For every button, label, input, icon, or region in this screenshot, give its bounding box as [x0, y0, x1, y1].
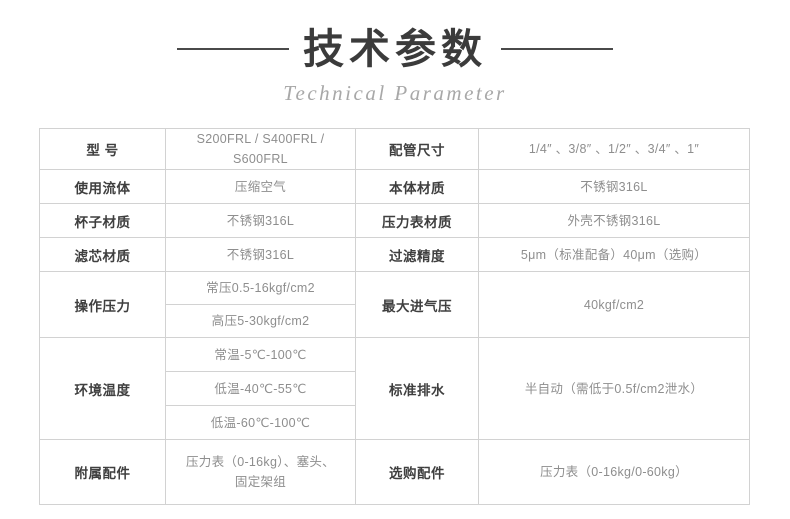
row-value-model: S200FRL / S400FRL / S600FRL [166, 129, 356, 170]
row-value-gauge-material: 外壳不锈钢316L [479, 204, 750, 238]
row-label-gauge-material: 压力表材质 [356, 204, 479, 238]
row-label-filtration: 过滤精度 [356, 238, 479, 272]
row-value-operating-pressure-high: 高压5-30kgf/cm2 [166, 305, 356, 338]
table-row: 环境温度 常温-5℃-100℃ 标准排水 半自动（需低于0.5f/cm2泄水） [40, 338, 750, 372]
spec-table: 型 号 S200FRL / S400FRL / S600FRL 配管尺寸 1/4… [39, 128, 750, 505]
table-row: 型 号 S200FRL / S400FRL / S600FRL 配管尺寸 1/4… [40, 129, 750, 170]
title-rule-right [501, 48, 613, 50]
page-title: 技术参数 [303, 24, 487, 74]
accessory-line-1: 压力表（0-16kg）、塞头、 [172, 452, 349, 472]
row-label-bowl-material: 杯子材质 [40, 204, 166, 238]
table-row: 使用流体 压缩空气 本体材质 不锈钢316L [40, 170, 750, 204]
row-value-optional-accessories: 压力表（0-16kg/0-60kg） [479, 440, 750, 505]
row-label-pipe-size: 配管尺寸 [356, 129, 479, 170]
table-row: 附属配件 压力表（0-16kg）、塞头、 固定架组 选购配件 压力表（0-16k… [40, 440, 750, 505]
row-label-ambient-temperature: 环境温度 [40, 338, 166, 440]
row-value-fluid: 压缩空气 [166, 170, 356, 204]
row-value-included-accessories: 压力表（0-16kg）、塞头、 固定架组 [166, 440, 356, 505]
row-label-included-accessories: 附属配件 [40, 440, 166, 505]
table-row: 操作压力 常压0.5-16kgf/cm2 最大进气压 40kgf/cm2 [40, 272, 750, 305]
row-value-pipe-size: 1/4″ 、3/8″ 、1/2″ 、3/4″ 、1″ [479, 129, 750, 170]
row-label-fluid: 使用流体 [40, 170, 166, 204]
row-value-filtration: 5μm（标准配备）40μm（选购） [479, 238, 750, 272]
row-label-model: 型 号 [40, 129, 166, 170]
table-row: 杯子材质 不锈钢316L 压力表材质 外壳不锈钢316L [40, 204, 750, 238]
row-label-max-inlet-pressure: 最大进气压 [356, 272, 479, 338]
page-header: 技术参数 Technical Parameter [0, 0, 790, 106]
row-value-temperature-normal: 常温-5℃-100℃ [166, 338, 356, 372]
row-value-body-material: 不锈钢316L [479, 170, 750, 204]
title-rule-left [177, 48, 289, 50]
spec-table-wrapper: 型 号 S200FRL / S400FRL / S600FRL 配管尺寸 1/4… [39, 128, 749, 505]
row-label-optional-accessories: 选购配件 [356, 440, 479, 505]
table-row: 滤芯材质 不锈钢316L 过滤精度 5μm（标准配备）40μm（选购） [40, 238, 750, 272]
row-label-body-material: 本体材质 [356, 170, 479, 204]
row-value-bowl-material: 不锈钢316L [166, 204, 356, 238]
row-value-element-material: 不锈钢316L [166, 238, 356, 272]
row-value-temperature-low-60: 低温-60℃-100℃ [166, 406, 356, 440]
row-label-operating-pressure: 操作压力 [40, 272, 166, 338]
row-label-standard-drain: 标准排水 [356, 338, 479, 440]
row-value-temperature-low-40: 低温-40℃-55℃ [166, 372, 356, 406]
title-row: 技术参数 [0, 24, 790, 74]
row-value-max-inlet-pressure: 40kgf/cm2 [479, 272, 750, 338]
page-subtitle: Technical Parameter [0, 81, 790, 106]
accessory-line-2: 固定架组 [172, 472, 349, 492]
row-value-standard-drain: 半自动（需低于0.5f/cm2泄水） [479, 338, 750, 440]
row-label-element-material: 滤芯材质 [40, 238, 166, 272]
row-value-operating-pressure-normal: 常压0.5-16kgf/cm2 [166, 272, 356, 305]
